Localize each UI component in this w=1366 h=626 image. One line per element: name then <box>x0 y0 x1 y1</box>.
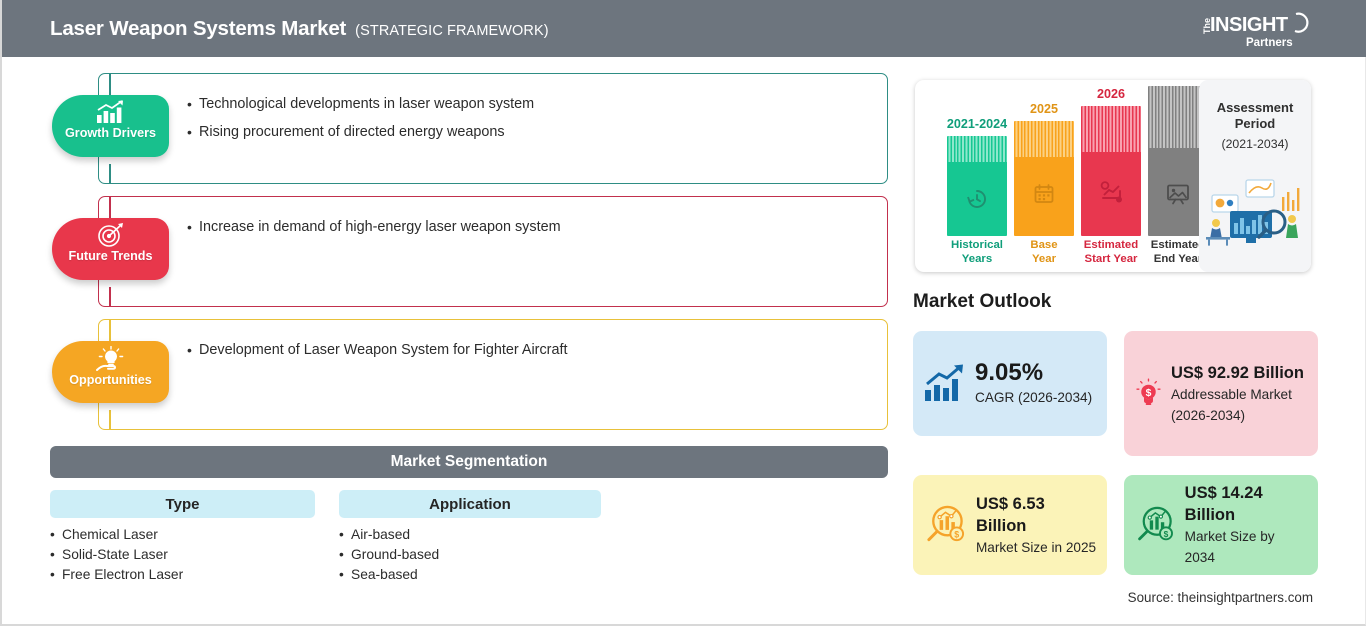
outlook-card-value: US$ 6.53 Billion <box>976 493 1097 537</box>
market-segmentation-title: Market Segmentation <box>50 446 888 478</box>
connector-stub-4 <box>109 287 111 307</box>
driver-pill-future-trends[interactable]: Future Trends <box>52 218 169 280</box>
outlook-card-market-size-2034: $ US$ 14.24 Billion Market Size by 2034 <box>1124 475 1318 575</box>
outlook-card-value: 9.05% <box>975 359 1092 387</box>
timeline-bar-stripes <box>1081 106 1141 152</box>
driver-box-growth-drivers: Technological developments in laser weap… <box>98 73 888 184</box>
assessment-period-range: (2021-2034) <box>1222 137 1289 151</box>
timeline-caption: HistoricalYears <box>941 239 1013 266</box>
segmentation-header-application: Application <box>339 490 601 518</box>
outlook-card-text: 9.05% CAGR (2026-2034) <box>975 359 1092 408</box>
outlook-card-text: US$ 14.24 Billion Market Size by 2034 <box>1185 482 1308 568</box>
timeline-column-estimated-start: 2026 EstimatedStart Year <box>1081 106 1141 266</box>
assessment-timeline-card: 2021-2024 HistoricalYears <box>915 80 1311 272</box>
outlook-card-value: US$ 14.24 Billion <box>1185 482 1308 526</box>
outlook-card-label: Addressable Market (2026-2034) <box>1171 384 1308 426</box>
bulb-dollar-icon: $ <box>1134 372 1163 416</box>
timeline-year: 2025 <box>1014 102 1074 116</box>
driver-box-opportunities: Development of Laser Weapon System for F… <box>98 319 888 430</box>
timeline-year: 2021-2024 <box>933 117 1021 131</box>
driver-pill-opportunities[interactable]: Opportunities <box>52 341 169 403</box>
driver-pill-growth-drivers[interactable]: Growth Drivers <box>52 95 169 157</box>
connector-stub-6 <box>109 410 111 430</box>
list-item: Free Electron Laser <box>50 565 320 585</box>
svg-text:$: $ <box>1146 388 1152 399</box>
driver-bullet: Increase in demand of high-energy laser … <box>187 213 887 241</box>
driver-pill-label: Opportunities <box>69 373 152 387</box>
timeline-bars: 2021-2024 HistoricalYears <box>925 80 1193 272</box>
timeline-bar <box>947 136 1007 236</box>
timeline-caption: BaseYear <box>1014 239 1074 266</box>
analytics-team-illustration <box>1202 175 1308 249</box>
list-item: Solid-State Laser <box>50 545 320 565</box>
timeline-column-base: 2025 BaseYear <box>1014 121 1074 266</box>
page-title: Laser Weapon Systems Market <box>50 17 346 41</box>
header-titles: Laser Weapon Systems Market (STRATEGIC F… <box>50 17 549 41</box>
svg-text:$: $ <box>1164 529 1169 539</box>
page-header: Laser Weapon Systems Market (STRATEGIC F… <box>2 0 1366 57</box>
outlook-card-text: US$ 6.53 Billion Market Size in 2025 <box>976 493 1097 558</box>
bar-chart-growth-icon <box>94 100 128 125</box>
assessment-period-title: AssessmentPeriod <box>1217 100 1294 132</box>
svg-text:INSIGHT: INSIGHT <box>1210 14 1288 36</box>
magnifier-chart-dollar-icon: $ <box>923 503 968 547</box>
magnifier-chart-dollar-icon: $ <box>1134 503 1177 547</box>
outlook-card-label: Market Size by 2034 <box>1185 526 1308 568</box>
insight-partners-logo: The INSIGHT Partners <box>1194 8 1316 50</box>
growth-bar-arrow-icon <box>923 364 967 404</box>
page-subtitle: (STRATEGIC FRAMEWORK) <box>355 23 549 39</box>
infographic-page: Laser Weapon Systems Market (STRATEGIC F… <box>0 0 1366 626</box>
outlook-card-label: Market Size in 2025 <box>976 537 1097 558</box>
source-text: Source: theinsightpartners.com <box>1128 590 1313 605</box>
driver-box-future-trends: Increase in demand of high-energy laser … <box>98 196 888 307</box>
outlook-card-addressable-market: $ US$ 92.92 Billion Addressable Market (… <box>1124 331 1318 456</box>
timeline-year: 2034 <box>1148 80 1208 81</box>
list-item: Chemical Laser <box>50 525 320 545</box>
timeline-year: 2026 <box>1081 87 1141 101</box>
outlook-card-cagr: 9.05% CAGR (2026-2034) <box>913 331 1107 436</box>
history-clock-icon <box>947 184 1007 214</box>
svg-text:Partners: Partners <box>1246 37 1293 49</box>
list-item: Ground-based <box>339 545 609 565</box>
segmentation-header-type: Type <box>50 490 315 518</box>
driver-bullet: Rising procurement of directed energy we… <box>187 118 887 146</box>
outlook-card-text: US$ 92.92 Billion Addressable Market (20… <box>1171 362 1308 426</box>
list-item: Air-based <box>339 525 609 545</box>
timeline-column-historical: 2021-2024 HistoricalYears <box>947 136 1007 266</box>
outlook-card-market-size-2025: $ US$ 6.53 Billion Market Size in 2025 <box>913 475 1107 575</box>
driver-pill-label: Growth Drivers <box>65 126 156 140</box>
market-outlook-title: Market Outlook <box>913 291 1051 313</box>
timeline-caption: EstimatedStart Year <box>1077 239 1145 266</box>
driver-bullet: Development of Laser Weapon System for F… <box>187 336 887 364</box>
calendar-icon <box>1014 179 1074 209</box>
timeline-bar-stripes <box>947 136 1007 162</box>
timeline-bar <box>1081 106 1141 236</box>
segmentation-list-type: Chemical Laser Solid-State Laser Free El… <box>50 525 320 585</box>
driver-pill-label: Future Trends <box>69 249 153 263</box>
timeline-bar-stripes <box>1014 121 1074 157</box>
target-dart-icon <box>97 223 125 248</box>
segmentation-list-application: Air-based Ground-based Sea-based <box>339 525 609 585</box>
list-item: Sea-based <box>339 565 609 585</box>
assessment-period-panel: AssessmentPeriod (2021-2034) <box>1199 80 1311 272</box>
connector-stub-2 <box>109 164 111 184</box>
lightbulb-hand-icon <box>94 346 128 372</box>
timeline-bar <box>1014 121 1074 236</box>
outlook-card-label: CAGR (2026-2034) <box>975 387 1092 408</box>
driver-bullet: Technological developments in laser weap… <box>187 90 887 118</box>
outlook-card-value: US$ 92.92 Billion <box>1171 362 1308 384</box>
svg-text:$: $ <box>954 530 959 540</box>
forecast-chart-icon <box>1081 176 1141 208</box>
